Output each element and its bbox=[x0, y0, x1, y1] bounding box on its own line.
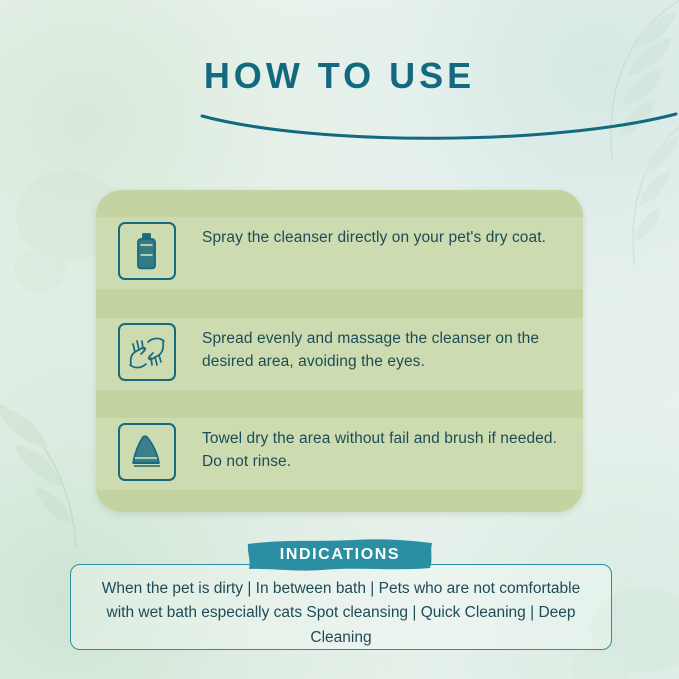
step-text-2: Spread evenly and massage the cleanser o… bbox=[202, 319, 568, 374]
header: HOW TO USE bbox=[0, 58, 679, 94]
spray-bottle-icon bbox=[118, 222, 176, 280]
step-text-1: Spray the cleanser directly on your pet'… bbox=[202, 218, 546, 249]
indications-ribbon: INDICATIONS bbox=[246, 538, 434, 571]
swoosh-underline bbox=[194, 110, 679, 146]
towel-icon bbox=[118, 423, 176, 481]
indications-text: When the pet is dirty | In between bath … bbox=[71, 577, 611, 650]
step-item-1: Spray the cleanser directly on your pet'… bbox=[118, 218, 568, 280]
step-item-2: Spread evenly and massage the cleanser o… bbox=[118, 319, 568, 381]
hands-massage-icon bbox=[118, 323, 176, 381]
indications-label: INDICATIONS bbox=[246, 538, 434, 571]
step-text-3: Towel dry the area without fail and brus… bbox=[202, 419, 568, 474]
poster-page: HOW TO USE bbox=[0, 0, 679, 679]
page-title: HOW TO USE bbox=[204, 58, 475, 94]
steps-card: Spray the cleanser directly on your pet'… bbox=[96, 190, 583, 512]
step-item-3: Towel dry the area without fail and brus… bbox=[118, 419, 568, 481]
indications-box: When the pet is dirty | In between bath … bbox=[70, 564, 612, 650]
